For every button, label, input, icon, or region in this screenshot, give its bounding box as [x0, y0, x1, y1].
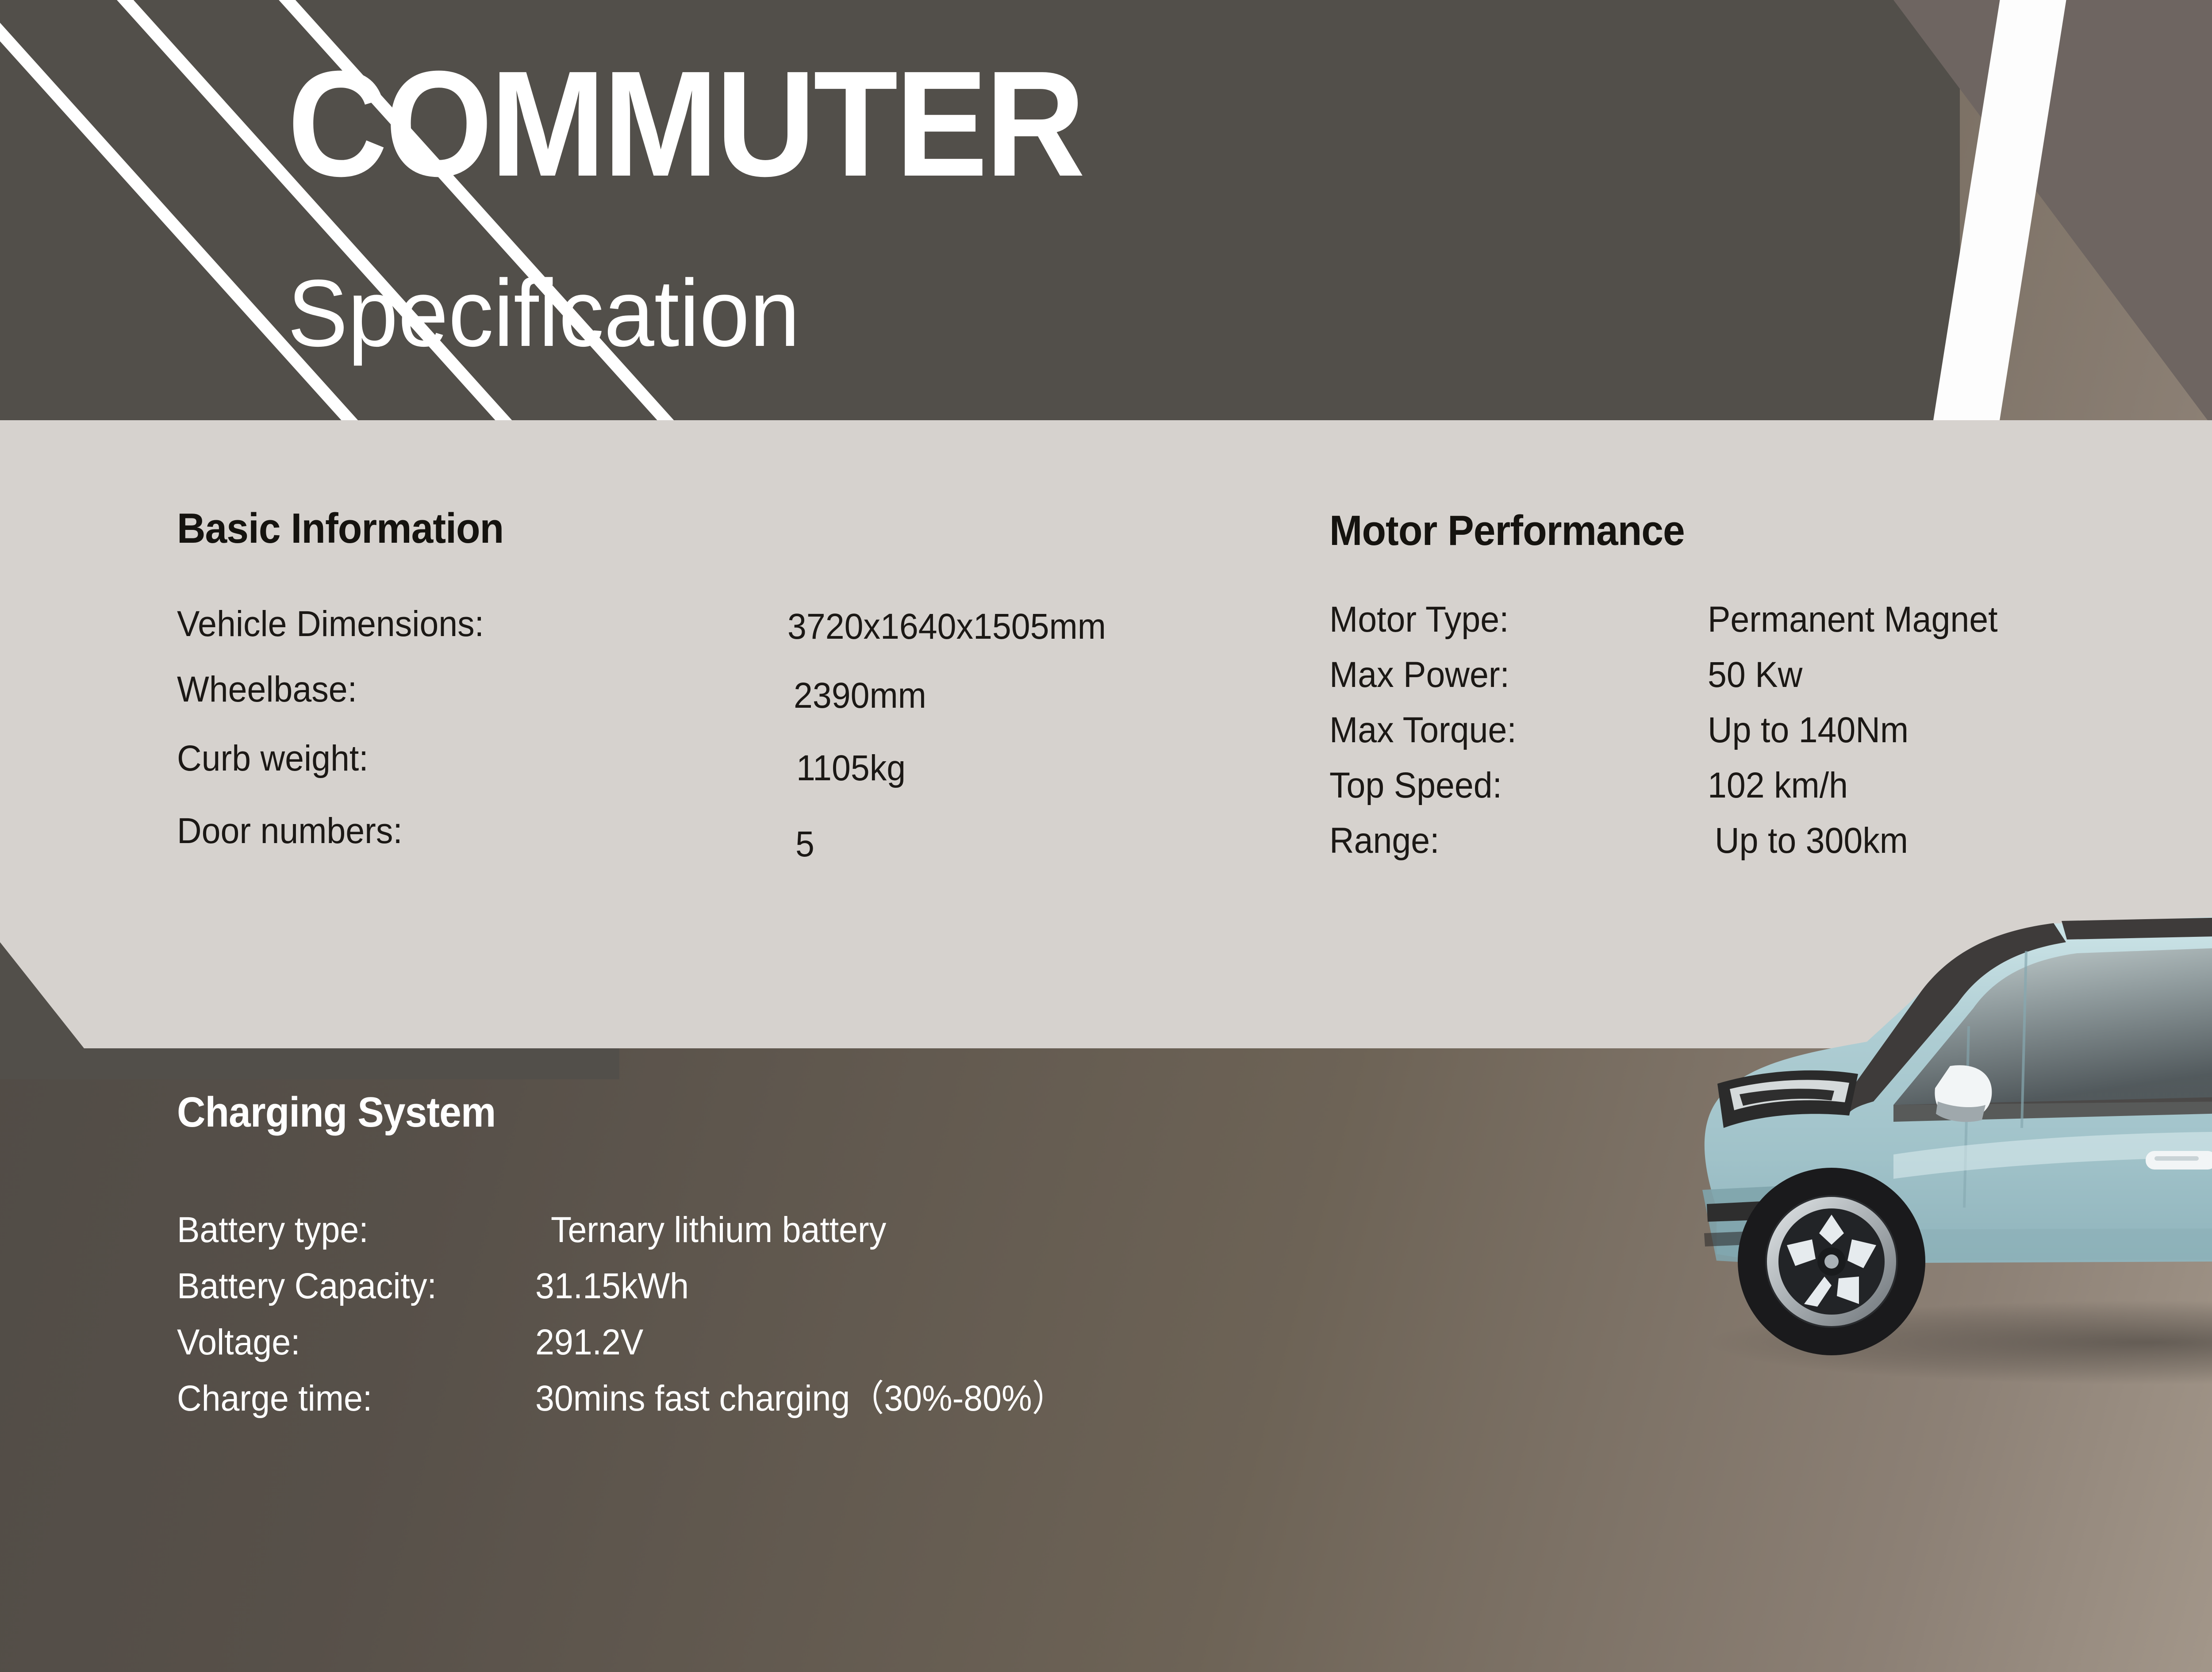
spec-value: 5 — [795, 826, 814, 863]
spec-row: Charge time: 30mins fast charging（30%-80… — [177, 1381, 1100, 1417]
spec-value: 1105kg — [796, 750, 906, 786]
section-heading-basic: Basic Information — [177, 504, 503, 553]
page-title: COMMUTER — [288, 49, 1083, 199]
spec-row: Battery type: Ternary lithium battery — [177, 1212, 1100, 1248]
spec-label: Max Power: — [1329, 657, 1685, 693]
spec-label: Battery Capacity: — [177, 1268, 514, 1304]
spec-value: 30mins fast charging（30%-80%） — [535, 1381, 1066, 1417]
spec-value: 31.15kWh — [535, 1268, 689, 1304]
spec-row: Wheelbase: 2390mm — [177, 671, 1126, 714]
spec-row: Top Speed: 102 km/h — [1329, 767, 2016, 804]
spec-list-basic: Vehicle Dimensions: 3720x1640x1505mm Whe… — [177, 606, 1126, 889]
spec-list-charging: Battery type: Ternary lithium battery Ba… — [177, 1212, 1100, 1437]
spec-value: 291.2V — [535, 1324, 643, 1361]
spec-label: Vehicle Dimensions: — [177, 606, 751, 642]
spec-row: Door numbers: 5 — [177, 813, 1126, 863]
spec-value: 102 km/h — [1708, 767, 1848, 804]
spec-label: Battery type: — [177, 1212, 514, 1248]
spec-value: Permanent Magnet — [1708, 602, 1998, 638]
spec-value: Ternary lithium battery — [551, 1212, 886, 1248]
spec-row: Motor Type: Permanent Magnet — [1329, 602, 2016, 638]
spec-row: Max Power: 50 Kw — [1329, 657, 2016, 693]
car-roof-trim — [2062, 911, 2212, 940]
spec-label: Charge time: — [177, 1381, 514, 1417]
spec-label: Door numbers: — [177, 813, 751, 849]
spec-value: 2390mm — [794, 678, 926, 714]
section-heading-motor: Motor Performance — [1329, 506, 1685, 555]
vehicle-illustration — [1584, 818, 2212, 1393]
spec-row: Max Torque: Up to 140Nm — [1329, 712, 2016, 748]
spec-label: Voltage: — [177, 1324, 514, 1361]
car-svg — [1584, 818, 2212, 1393]
section-heading-charging: Charging System — [177, 1088, 495, 1137]
page-subtitle: Specification — [288, 265, 800, 360]
spec-label: Wheelbase: — [177, 671, 751, 708]
spec-row: Battery Capacity: 31.15kWh — [177, 1268, 1100, 1304]
spec-label: Motor Type: — [1329, 602, 1685, 638]
spec-value: 50 Kw — [1708, 657, 1802, 693]
door-handle-front — [2146, 1151, 2212, 1170]
spec-slide: COMMUTER Specification Basic Information… — [0, 0, 2212, 1672]
spec-row: Vehicle Dimensions: 3720x1640x1505mm — [177, 606, 1126, 645]
spec-value: 3720x1640x1505mm — [787, 609, 1106, 645]
spec-label: Top Speed: — [1329, 767, 1685, 804]
spec-label: Max Torque: — [1329, 712, 1685, 748]
spec-row: Curb weight: 1105kg — [177, 740, 1126, 786]
spec-label: Curb weight: — [177, 740, 751, 777]
front-wheel — [1738, 1168, 1925, 1355]
spec-value: Up to 140Nm — [1708, 712, 1909, 748]
spec-row: Voltage: 291.2V — [177, 1324, 1100, 1361]
